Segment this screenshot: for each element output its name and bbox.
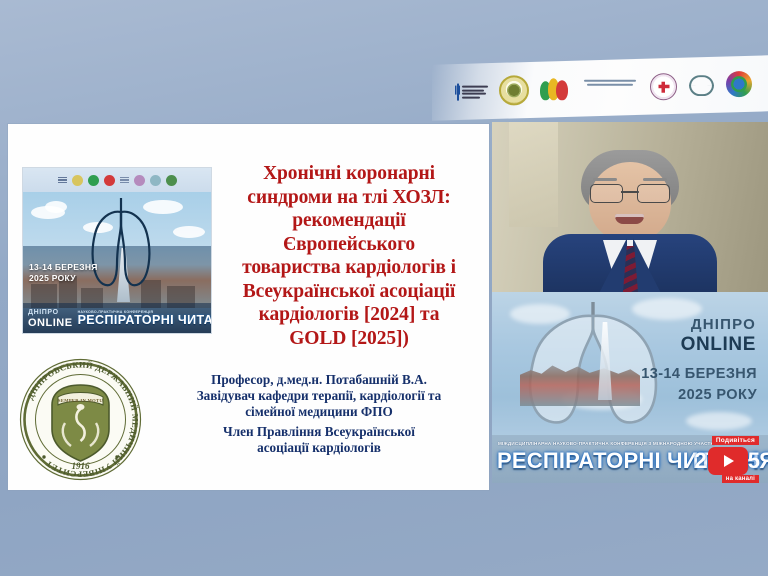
banner-city-label: ДНІПРО [691, 316, 756, 333]
red-cross-seal-logo [650, 73, 677, 100]
banner-date-line1: 13-14 БЕРЕЗНЯ [641, 366, 757, 382]
rainbow-globe-logo [726, 71, 752, 97]
year-suffix-hidden [708, 447, 748, 475]
banner-date: 13-14 БЕРЕЗНЯ 2025 РОКУ [641, 364, 757, 406]
eyeglasses-icon [590, 184, 670, 201]
slide-title-line-5: товариства кардіологів і [220, 256, 478, 280]
poster-footer: ДНІПРО ONLINE НАУКОВО-ПРАКТИЧНА КОНФЕРЕН… [23, 303, 211, 333]
slide-author-line-4: Член Правління Всеукраїнської [156, 424, 482, 440]
speaker-mouth [615, 214, 644, 224]
svg-text:1916: 1916 [72, 461, 91, 471]
slide-author-line-3: сімейної медицини ФПО [156, 404, 482, 420]
banner-mode-label: ONLINE [681, 334, 756, 356]
slide-title-line-6: Всеукраїнської асоціації [220, 280, 478, 304]
banner-subtitle: МІЖДИСЦИПЛІНАРНА НАУКОВО-ПРАКТИЧНА КОНФЕ… [498, 441, 716, 446]
poster-mode-label: ONLINE [28, 317, 73, 329]
slide-author-line-1: Професор, д.мед.н. Потабашній В.А. [156, 372, 482, 388]
slide-title-line-4: Європейського [220, 233, 478, 257]
slide-title: Хронічні коронарнісиндроми на тлі ХОЗЛ:р… [220, 162, 478, 350]
slide-title-line-8: GOLD [2025]) [220, 327, 478, 351]
university-seal: ДНІПРОВСЬКИЙ ДЕРЖАВНИЙ МЕДИЧНИЙ УНІВЕРСИ… [18, 357, 143, 482]
wave-text-logo [581, 76, 639, 100]
green-seal-logo [499, 75, 529, 105]
presentation-slide[interactable]: 13-14 БЕРЕЗНЯ 2025 РОКУ ДНІПРО ONLINE НА… [8, 124, 489, 490]
youtube-play-icon[interactable] [708, 447, 748, 475]
svg-text:SEMPER IN MOTU: SEMPER IN MOTU [58, 398, 103, 403]
slide-author-block: Професор, д.мед.н. Потабашній В.А.Завіду… [156, 372, 482, 456]
poster-city-label: ДНІПРО [28, 308, 73, 317]
watch-badge-top[interactable]: Подивіться [712, 436, 759, 445]
people-figures-logo [540, 77, 570, 101]
slide-title-line-7: кардіологів [2024] та [220, 303, 478, 327]
poster-date: 13-14 БЕРЕЗНЯ 2025 РОКУ [29, 262, 98, 284]
trident-icon [455, 83, 460, 100]
slide-title-line-2: синдроми на тлі ХОЗЛ: [220, 186, 478, 210]
banner-year: 2 5 [695, 447, 761, 475]
poster-date-line1: 13-14 БЕРЕЗНЯ [29, 262, 98, 272]
year-suffix: 5 [748, 448, 760, 474]
screen-share-stage: 13-14 БЕРЕЗНЯ 2025 РОКУ ДНІПРО ONLINE НА… [0, 0, 768, 576]
slide-author-line-2: Завідувач кафедри терапії, кардіології т… [156, 388, 482, 404]
ministry-of-health-logo [455, 83, 488, 100]
poster-logo-row [23, 168, 211, 192]
arc-logo [688, 73, 715, 98]
sponsor-logo-strip [432, 55, 768, 120]
slide-title-line-1: Хронічні коронарні [220, 162, 478, 186]
banner-date-line2: 2025 РОКУ [678, 387, 757, 403]
speaker-video-tile[interactable] [492, 122, 768, 292]
slide-author-line-5: асоціації кардіологів [156, 440, 482, 456]
slide-title-line-3: рекомендації [220, 209, 478, 233]
year-prefix: 2 [695, 448, 707, 474]
conference-poster-thumbnail: 13-14 БЕРЕЗНЯ 2025 РОКУ ДНІПРО ONLINE НА… [22, 167, 212, 334]
watch-badge-bottom[interactable]: на каналі [722, 475, 759, 483]
conference-banner[interactable]: ДНІПРО ONLINE 13-14 БЕРЕЗНЯ 2025 РОКУ МІ… [492, 292, 768, 483]
speaker-figure [535, 140, 725, 292]
poster-main-title: РЕСПІРАТОРНІ ЧИТАННЯ 2025 [78, 314, 212, 327]
poster-date-line2: 2025 РОКУ [29, 273, 76, 283]
